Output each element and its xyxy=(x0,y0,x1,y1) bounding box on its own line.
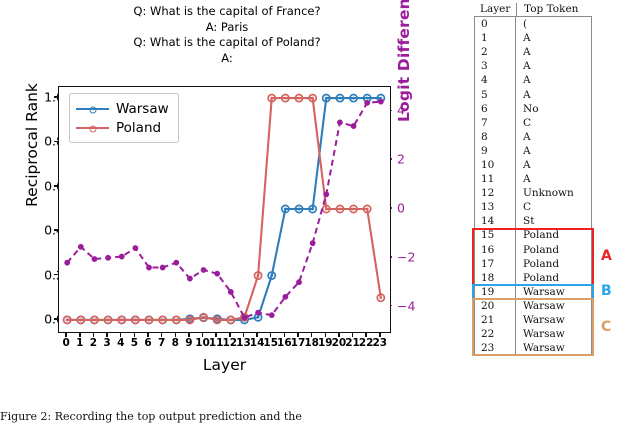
x-tick-mark xyxy=(256,333,257,337)
table-cell-top-token: A xyxy=(515,45,591,59)
table-row[interactable]: 6No xyxy=(475,102,591,116)
table-cell-layer: 1 xyxy=(475,32,515,44)
x-tick-mark xyxy=(352,333,353,337)
series-marker xyxy=(147,265,152,270)
series-marker-core xyxy=(311,97,314,100)
series-marker-core xyxy=(298,208,301,211)
x-tick-mark xyxy=(93,333,94,337)
series-marker-core xyxy=(379,296,382,299)
series-marker xyxy=(379,99,384,104)
series-marker-core xyxy=(366,97,369,100)
table-cell-top-token: A xyxy=(515,130,591,144)
series-marker-core xyxy=(66,318,69,321)
series-marker-core xyxy=(311,208,314,211)
table-row[interactable]: 20Warsaw xyxy=(475,299,591,313)
chart-legend: Warsaw Poland xyxy=(69,93,179,143)
table-cell-top-token: A xyxy=(515,144,591,158)
y-tick-right: −2 xyxy=(397,249,427,264)
top-token-table: Layer Top Token 0(1A2A3A4A5A6No7C8A9A10A… xyxy=(474,2,592,356)
x-tick-mark xyxy=(79,333,80,337)
table-row[interactable]: 9A xyxy=(475,144,591,158)
table-row[interactable]: 22Warsaw xyxy=(475,327,591,341)
table-cell-layer: 21 xyxy=(475,314,515,326)
series-marker xyxy=(310,241,315,246)
table-cell-layer: 6 xyxy=(475,103,515,115)
series-marker xyxy=(215,271,220,276)
series-marker-core xyxy=(257,274,260,277)
table-cell-layer: 16 xyxy=(475,244,515,256)
series-marker-core xyxy=(93,318,96,321)
series-marker-core xyxy=(188,318,191,321)
series-marker xyxy=(92,257,97,262)
table-cell-layer: 7 xyxy=(475,117,515,129)
series-marker-core xyxy=(338,208,341,211)
table-cell-top-token: Poland xyxy=(515,243,591,257)
table-cell-layer: 9 xyxy=(475,145,515,157)
series-marker-core xyxy=(270,97,273,100)
series-marker-core xyxy=(79,318,82,321)
series-marker xyxy=(79,245,84,250)
chart-figure: Reciprocal Rank Logit Difference Layer 0… xyxy=(0,78,460,378)
x-tick-mark xyxy=(215,333,216,337)
highlight-label-b: B xyxy=(601,283,612,299)
table-row[interactable]: 21Warsaw xyxy=(475,313,591,327)
table-cell-layer: 15 xyxy=(475,229,515,241)
series-marker-core xyxy=(148,318,151,321)
series-marker xyxy=(242,315,247,320)
series-marker-core xyxy=(120,318,123,321)
table-row[interactable]: 12Unknown xyxy=(475,186,591,200)
table-cell-top-token: A xyxy=(515,87,591,101)
series-marker xyxy=(365,101,370,106)
table-row[interactable]: 11A xyxy=(475,172,591,186)
series-marker xyxy=(188,276,193,281)
x-tick-mark xyxy=(325,333,326,337)
table-cell-layer: 4 xyxy=(475,74,515,86)
table-cell-top-token: A xyxy=(515,73,591,87)
table-cell-layer: 0 xyxy=(475,18,515,30)
legend-item-poland: Poland xyxy=(76,118,169,137)
x-tick-mark xyxy=(284,333,285,337)
x-tick-mark xyxy=(243,333,244,337)
table-header-top-token: Top Token xyxy=(516,3,592,16)
table-header-layer: Layer xyxy=(474,3,516,15)
series-marker-core xyxy=(107,318,110,321)
table-cell-top-token: Warsaw xyxy=(515,313,591,327)
series-marker-core xyxy=(202,316,205,319)
table-row[interactable]: 14St xyxy=(475,214,591,228)
series-marker-core xyxy=(284,208,287,211)
x-tick: 23 xyxy=(370,337,390,349)
table-cell-top-token: Poland xyxy=(515,271,591,285)
table-cell-top-token: ( xyxy=(515,17,591,31)
table-cell-layer: 10 xyxy=(475,159,515,171)
table-row[interactable]: 15Poland xyxy=(475,228,591,242)
x-axis-label: Layer xyxy=(58,356,391,374)
legend-label-warsaw: Warsaw xyxy=(116,101,169,117)
series-marker-core xyxy=(284,97,287,100)
series-marker-core xyxy=(161,318,164,321)
table-row[interactable]: 2A xyxy=(475,45,591,59)
y-tick-right: 2 xyxy=(397,152,427,167)
series-marker-core xyxy=(325,208,328,211)
table-cell-top-token: A xyxy=(515,59,591,73)
series-marker-core xyxy=(366,208,369,211)
table-cell-top-token: C xyxy=(515,200,591,214)
x-tick-mark xyxy=(120,333,121,337)
series-marker xyxy=(174,260,179,265)
table-cell-top-token: C xyxy=(515,116,591,130)
legend-item-warsaw: Warsaw xyxy=(76,99,169,118)
table-row[interactable]: 19Warsaw xyxy=(475,285,591,299)
highlight-label-a: A xyxy=(601,248,612,264)
x-tick-mark xyxy=(270,333,271,337)
series-marker-core xyxy=(229,318,232,321)
x-tick-mark xyxy=(188,333,189,337)
series-marker-core xyxy=(338,97,341,100)
series-marker xyxy=(106,256,111,261)
prompt-line-1: Q: What is the capital of France? xyxy=(62,4,392,20)
table-row[interactable]: 18Poland xyxy=(475,271,591,285)
x-tick-mark xyxy=(65,333,66,337)
x-tick-mark xyxy=(338,333,339,337)
prompt-line-4: A: xyxy=(62,51,392,67)
series-marker-core xyxy=(216,318,219,321)
x-tick-mark xyxy=(311,333,312,337)
series-marker-core xyxy=(325,97,328,100)
legend-label-poland: Poland xyxy=(116,120,161,136)
table-cell-top-token: St xyxy=(515,214,591,228)
table-row[interactable]: 16Poland xyxy=(475,243,591,257)
table-cell-layer: 22 xyxy=(475,328,515,340)
series-marker-core xyxy=(298,97,301,100)
x-tick-mark xyxy=(147,333,148,337)
series-marker xyxy=(133,246,138,251)
table-cell-layer: 5 xyxy=(475,89,515,101)
series-marker xyxy=(201,268,206,273)
highlight-label-c: C xyxy=(601,319,611,335)
table-cell-layer: 17 xyxy=(475,258,515,270)
table-row[interactable]: 1A xyxy=(475,31,591,45)
legend-swatch-warsaw xyxy=(76,108,109,110)
table-cell-layer: 14 xyxy=(475,215,515,227)
table-row[interactable]: 4A xyxy=(475,73,591,87)
x-tick-mark xyxy=(161,333,162,337)
series-marker xyxy=(229,290,234,295)
x-tick-mark xyxy=(229,333,230,337)
figure-root: Q: What is the capital of France? A: Par… xyxy=(0,0,630,424)
plot-area: Warsaw Poland xyxy=(58,86,391,333)
table-cell-layer: 13 xyxy=(475,201,515,213)
x-tick-mark xyxy=(175,333,176,337)
series-marker xyxy=(256,310,261,315)
table-cell-top-token: Warsaw xyxy=(515,285,591,299)
table-cell-top-token: Warsaw xyxy=(515,327,591,341)
series-marker-core xyxy=(352,97,355,100)
y-axis-label-right: Logit Difference xyxy=(395,0,413,140)
table-cell-top-token: Unknown xyxy=(515,186,591,200)
y-tick-right: 0 xyxy=(397,201,427,216)
prompt-line-2: A: Paris xyxy=(62,20,392,36)
table-header-row: Layer Top Token xyxy=(474,2,592,16)
table-row[interactable]: 10A xyxy=(475,158,591,172)
table-cell-layer: 18 xyxy=(475,272,515,284)
table-row[interactable]: 3A xyxy=(475,59,591,73)
table-cell-layer: 8 xyxy=(475,131,515,143)
series-marker-core xyxy=(134,318,137,321)
x-tick-mark xyxy=(202,333,203,337)
prompt-text: Q: What is the capital of France? A: Par… xyxy=(62,4,392,66)
table-body: 0(1A2A3A4A5A6No7C8A9A10A11A12Unknown13C1… xyxy=(474,16,592,356)
prompt-line-3: Q: What is the capital of Poland? xyxy=(62,35,392,51)
y-tick-right: −4 xyxy=(397,298,427,313)
figure-caption: Figure 2: Recording the top output predi… xyxy=(0,410,460,423)
table-cell-top-token: Poland xyxy=(515,228,591,242)
table-cell-layer: 2 xyxy=(475,46,515,58)
table-cell-top-token: Poland xyxy=(515,257,591,271)
x-tick-mark xyxy=(106,333,107,337)
series-marker xyxy=(269,313,274,318)
table-cell-top-token: A xyxy=(515,172,591,186)
series-marker xyxy=(160,265,165,270)
table-row[interactable]: 0( xyxy=(475,17,591,31)
series-marker xyxy=(65,260,70,265)
series-marker-core xyxy=(352,208,355,211)
series-marker xyxy=(283,295,288,300)
table-cell-top-token: No xyxy=(515,102,591,116)
y-tick-right: 4 xyxy=(397,103,427,118)
table-cell-top-token: A xyxy=(515,31,591,45)
table-cell-layer: 11 xyxy=(475,173,515,185)
x-tick-mark xyxy=(379,333,380,337)
legend-swatch-poland xyxy=(76,127,109,129)
series-marker xyxy=(297,280,302,285)
x-tick-mark xyxy=(134,333,135,337)
table-cell-layer: 3 xyxy=(475,60,515,72)
series-marker-core xyxy=(257,316,260,319)
table-row[interactable]: 8A xyxy=(475,130,591,144)
table-cell-layer: 20 xyxy=(475,300,515,312)
table-row[interactable]: 17Poland xyxy=(475,257,591,271)
series-marker xyxy=(324,192,329,197)
x-tick-mark xyxy=(297,333,298,337)
series-marker xyxy=(119,254,124,259)
table-cell-top-token: Warsaw xyxy=(515,341,591,355)
table-row[interactable]: 23Warsaw xyxy=(475,341,591,355)
table-cell-layer: 23 xyxy=(475,342,515,354)
table-cell-layer: 12 xyxy=(475,187,515,199)
table-row[interactable]: 13C xyxy=(475,200,591,214)
series-marker-core xyxy=(175,318,178,321)
table-cell-layer: 19 xyxy=(475,286,515,298)
table-row[interactable]: 5A xyxy=(475,87,591,101)
series-marker xyxy=(338,120,343,125)
series-marker xyxy=(351,124,356,129)
table-row[interactable]: 7C xyxy=(475,116,591,130)
series-marker-core xyxy=(270,274,273,277)
x-tick-mark xyxy=(365,333,366,337)
table-cell-top-token: Warsaw xyxy=(515,299,591,313)
table-cell-top-token: A xyxy=(515,158,591,172)
